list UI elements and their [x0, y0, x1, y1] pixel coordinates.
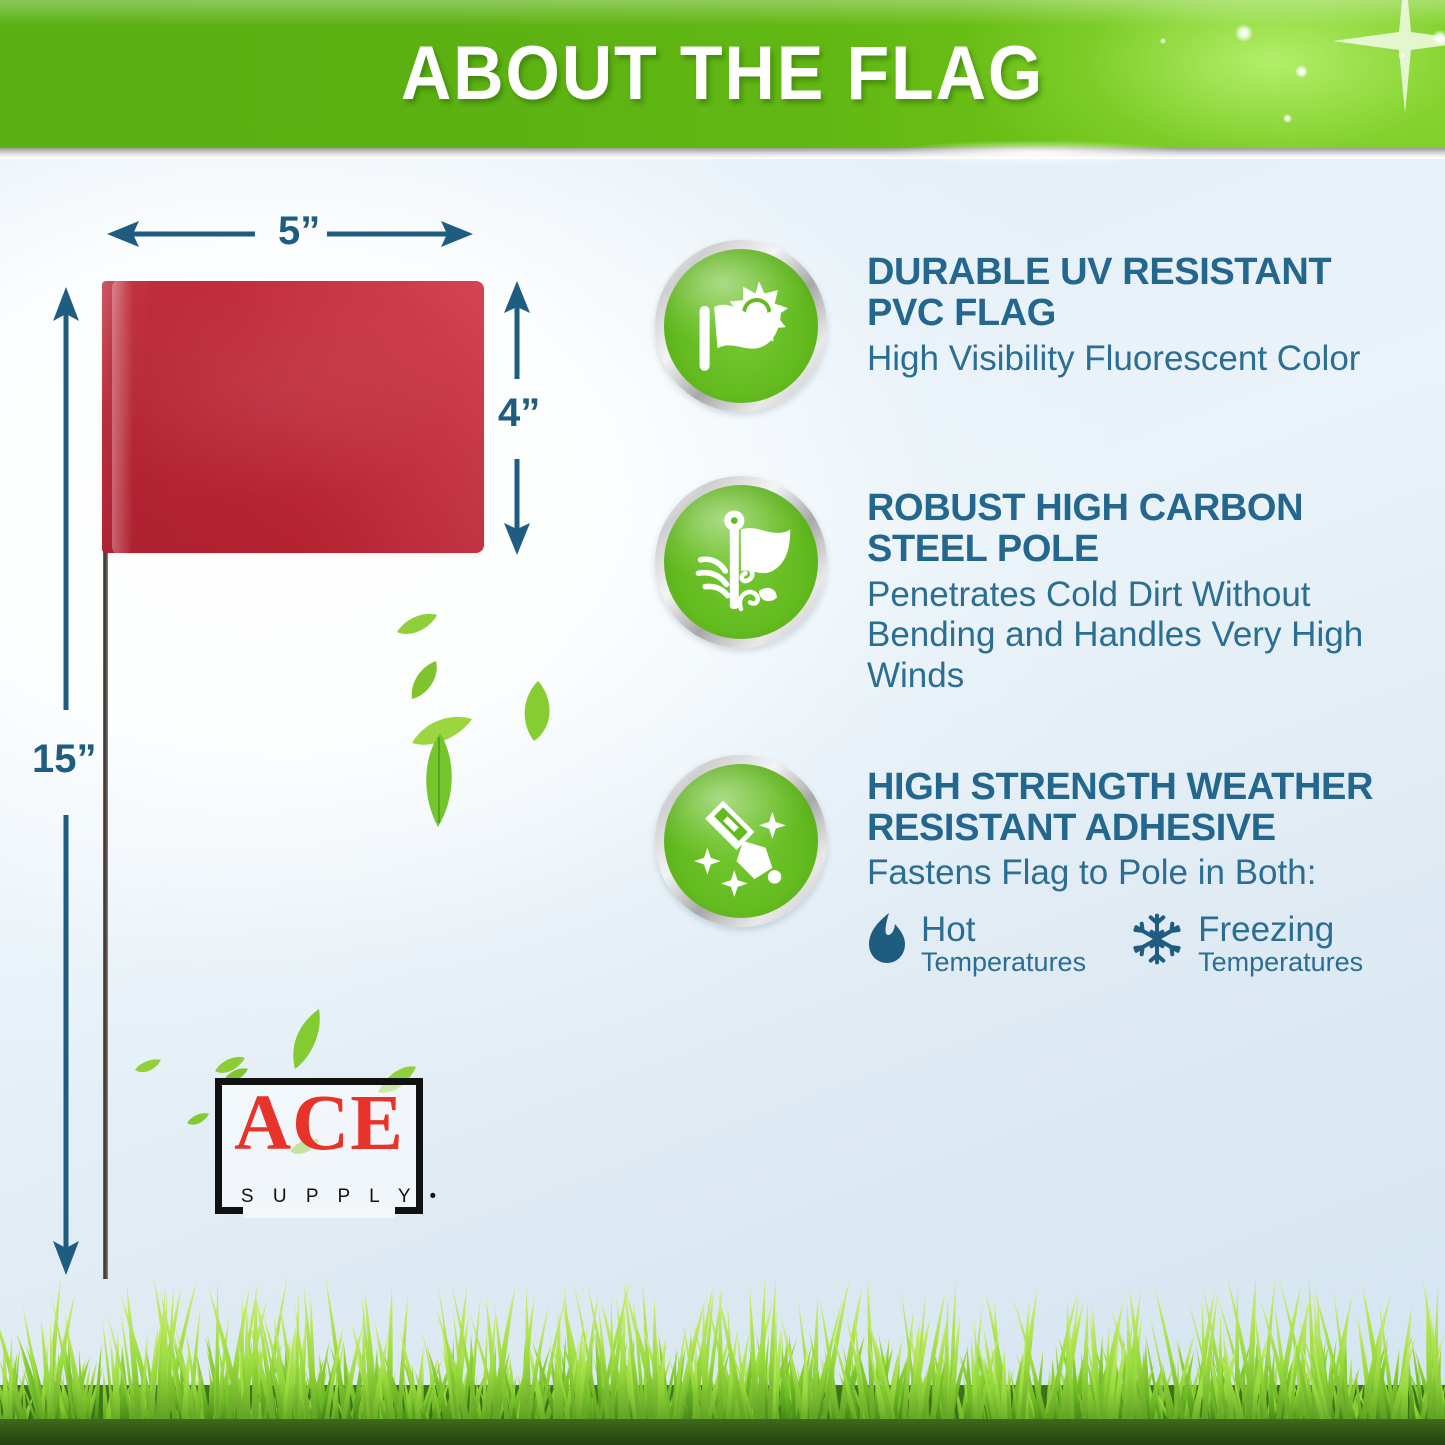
feature-text: HIGH STRENGTH WEATHER RESISTANT ADHESIVE…	[867, 755, 1415, 976]
temperature-row: Hot Temperatures	[867, 912, 1415, 976]
flag-pole-wind-icon	[664, 485, 818, 639]
temperature-sub: Temperatures	[921, 949, 1086, 976]
feature-subtitle: Fastens Flag to Pole in Both:	[867, 853, 1415, 894]
adhesive-glue-icon	[664, 764, 818, 918]
flag-sun-icon	[664, 249, 818, 403]
feature-item-uv-resistant: DURABLE UV RESISTANT PVC FLAG High Visib…	[655, 240, 1415, 412]
feature-icon-badge	[655, 476, 827, 648]
feature-title: HIGH STRENGTH WEATHER RESISTANT ADHESIVE	[867, 767, 1415, 850]
leaf-icon	[406, 659, 440, 701]
leaf-icon	[395, 612, 439, 638]
product-infographic: ABOUT THE FLAG 5” 4” 15”	[0, 0, 1445, 1445]
temperature-main: Freezing	[1198, 912, 1363, 947]
leaf-icon	[289, 1007, 323, 1071]
page-title: ABOUT THE FLAG	[58, 36, 1387, 112]
temperature-labels: Hot Temperatures	[921, 912, 1086, 976]
brand-logo: ACE • S U P P L Y •	[215, 1078, 423, 1214]
temperature-sub: Temperatures	[1198, 949, 1363, 976]
banner-sparkle-icon	[1283, 114, 1292, 123]
logo-tagline: • S U P P L Y •	[215, 1186, 423, 1208]
leaf-icon	[516, 679, 558, 743]
flame-icon	[867, 912, 907, 964]
banner-sparkle-icon	[1432, 30, 1445, 46]
leaf-icon	[418, 731, 460, 829]
snowflake-icon	[1130, 912, 1184, 966]
feature-item-steel-pole: ROBUST HIGH CARBON STEEL POLE Penetrates…	[655, 476, 1415, 697]
red-marking-flag-icon	[102, 281, 484, 553]
banner-sheen	[0, 0, 1445, 26]
temperature-item-hot: Hot Temperatures	[867, 912, 1086, 976]
banner-edge-glow	[885, 140, 1185, 166]
feature-text: ROBUST HIGH CARBON STEEL POLE Penetrates…	[867, 476, 1415, 697]
temperature-main: Hot	[921, 912, 1086, 947]
logo-name: ACE	[215, 1084, 423, 1163]
feature-icon-badge	[655, 755, 827, 927]
feature-subtitle: High Visibility Fluorescent Color	[867, 339, 1415, 380]
temperature-labels: Freezing Temperatures	[1198, 912, 1363, 976]
dimension-label-total-height: 15”	[32, 737, 97, 782]
header-banner: ABOUT THE FLAG	[0, 0, 1445, 148]
flag-pole	[103, 539, 108, 1279]
soil-line	[0, 1419, 1445, 1445]
grass-strip	[0, 1255, 1445, 1445]
dimension-label-width: 5”	[278, 209, 320, 254]
leaf-icon	[133, 1058, 163, 1076]
feature-list: DURABLE UV RESISTANT PVC FLAG High Visib…	[655, 240, 1415, 976]
leaf-icon	[185, 1112, 211, 1128]
banner-bottom-edge	[0, 148, 1445, 159]
feature-title: ROBUST HIGH CARBON STEEL POLE	[867, 488, 1415, 571]
feature-subtitle: Penetrates Cold Dirt Without Bending and…	[867, 575, 1415, 697]
feature-text: DURABLE UV RESISTANT PVC FLAG High Visib…	[867, 240, 1415, 379]
temperature-item-freezing: Freezing Temperatures	[1130, 912, 1363, 976]
dimension-label-height: 4”	[498, 391, 540, 436]
banner-sparkle-icon	[1398, 52, 1405, 59]
feature-item-adhesive: HIGH STRENGTH WEATHER RESISTANT ADHESIVE…	[655, 755, 1415, 976]
feature-title: DURABLE UV RESISTANT PVC FLAG	[867, 252, 1415, 335]
feature-icon-badge	[655, 240, 827, 412]
